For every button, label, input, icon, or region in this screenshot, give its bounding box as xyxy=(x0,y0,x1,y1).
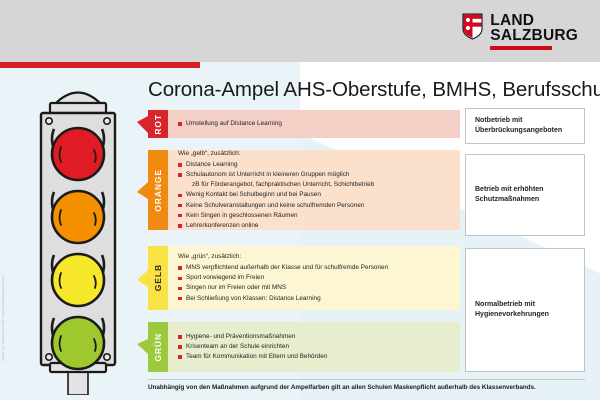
tab-tail-rot xyxy=(137,116,148,133)
list-item: Schulautonom ist Unterricht in kleineren… xyxy=(178,170,452,180)
list-item: Team für Kommunikation mit Eltern und Be… xyxy=(178,352,452,362)
measure-body-rot: Umstellung auf Distance Learning xyxy=(168,110,460,138)
header-band: LAND SALZBURG xyxy=(0,0,600,62)
list-item: Bei Schließung von Klassen: Distance Lea… xyxy=(178,294,452,304)
outcome-box-orange: Betrieb mit erhöhtenSchutzmaßnahmen xyxy=(465,154,585,236)
level-label-gelb: GELB xyxy=(154,264,163,291)
outcome-box-normalbetrieb: Normalbetrieb mitHygienevorkehrungen xyxy=(465,248,585,372)
lamp-orange xyxy=(52,191,104,243)
footnote-text: Unabhängig von den Maßnahmen aufgrund de… xyxy=(148,384,536,391)
logo-line-land: LAND xyxy=(490,13,578,28)
list-item: Singen nur im Freien oder mit MNS xyxy=(178,283,452,293)
measure-row-orange: ORANGE Wie „gelb“, zusätzlich: Distance … xyxy=(148,150,460,230)
outcome-text-normalbetrieb: Normalbetrieb mitHygienevorkehrungen xyxy=(475,300,549,321)
level-tab-orange: ORANGE xyxy=(148,150,168,230)
list-item: Krisenteam an der Schule einrichten xyxy=(178,342,452,352)
footer-divider xyxy=(148,379,585,380)
infographic-page: Stand: 10. September 2020 | Quelle: Bild… xyxy=(0,62,600,400)
measure-list-gelb: MNS verpflichtend außerhalb der Klasse u… xyxy=(178,263,452,303)
measure-lead-orange: Wie „gelb“, zusätzlich: xyxy=(178,149,452,159)
red-accent-rule xyxy=(0,62,200,68)
measure-row-rot: ROT Umstellung auf Distance Learning xyxy=(148,110,460,138)
outcome-text-rot: Notbetrieb mitÜberbrückungsangeboten xyxy=(475,116,562,137)
list-item: MNS verpflichtend außerhalb der Klasse u… xyxy=(178,263,452,273)
logo-underline xyxy=(490,46,552,50)
measure-body-gruen: Hygiene- und Präventionsmaßnahmen Krisen… xyxy=(168,322,460,372)
list-item: Keine Schulveranstaltungen und keine sch… xyxy=(178,201,452,211)
logo-wordmark: LAND SALZBURG xyxy=(490,13,578,50)
measure-list-orange: Distance Learning Schulautonom ist Unter… xyxy=(178,160,452,231)
tab-tail-orange xyxy=(137,182,148,199)
measure-body-orange: Wie „gelb“, zusätzlich: Distance Learnin… xyxy=(168,150,460,230)
salzburg-coat-of-arms-icon xyxy=(462,13,483,40)
tab-tail-gelb xyxy=(137,270,148,287)
measure-list-gruen: Hygiene- und Präventionsmaßnahmen Krisen… xyxy=(178,332,452,362)
traffic-light-icon xyxy=(28,70,128,400)
list-item: Kein Singen in geschlossenen Räumen xyxy=(178,211,452,221)
level-label-rot: ROT xyxy=(154,114,163,135)
measure-row-gelb: GELB Wie „grün“, zusätzlich: MNS verpfli… xyxy=(148,246,460,310)
measure-lead-gelb: Wie „grün“, zusätzlich: xyxy=(178,252,452,262)
list-item: Lehrerkonferenzen online xyxy=(178,221,452,231)
list-item: Sport vorwiegend im Freien xyxy=(178,273,452,283)
list-item: Wenig Kontakt bei Schulbeginn und bei Pa… xyxy=(178,190,452,200)
outcome-text-orange: Betrieb mit erhöhtenSchutzmaßnahmen xyxy=(475,185,543,206)
outcome-box-rot: Notbetrieb mitÜberbrückungsangeboten xyxy=(465,108,585,144)
level-label-orange: ORANGE xyxy=(154,169,163,212)
measure-row-gruen: GRÜN Hygiene- und Präventionsmaßnahmen K… xyxy=(148,322,460,372)
measure-list-rot: Umstellung auf Distance Learning xyxy=(178,119,452,129)
level-tab-rot: ROT xyxy=(148,110,168,138)
level-tab-gelb: GELB xyxy=(148,246,168,310)
tab-tail-gruen xyxy=(137,339,148,356)
lamp-red xyxy=(52,128,104,180)
source-credit: Stand: 10. September 2020 | Quelle: Bild… xyxy=(1,274,5,361)
lamp-yellow xyxy=(52,254,104,306)
measure-body-gelb: Wie „grün“, zusätzlich: MNS verpflichten… xyxy=(168,246,460,310)
lamp-green xyxy=(52,317,104,369)
list-item: Hygiene- und Präventionsmaßnahmen xyxy=(178,332,452,342)
level-tab-gruen: GRÜN xyxy=(148,322,168,372)
page-title: Corona-Ampel AHS-Oberstufe, BMHS, Berufs… xyxy=(148,78,600,102)
level-label-gruen: GRÜN xyxy=(154,333,163,362)
land-salzburg-logo: LAND SALZBURG xyxy=(462,13,578,50)
list-item-continuation: zB für Förderangebot, fachpraktischen Un… xyxy=(178,180,452,190)
list-item: Distance Learning xyxy=(178,160,452,170)
list-item: Umstellung auf Distance Learning xyxy=(178,119,452,129)
logo-line-salzburg: SALZBURG xyxy=(490,28,578,43)
